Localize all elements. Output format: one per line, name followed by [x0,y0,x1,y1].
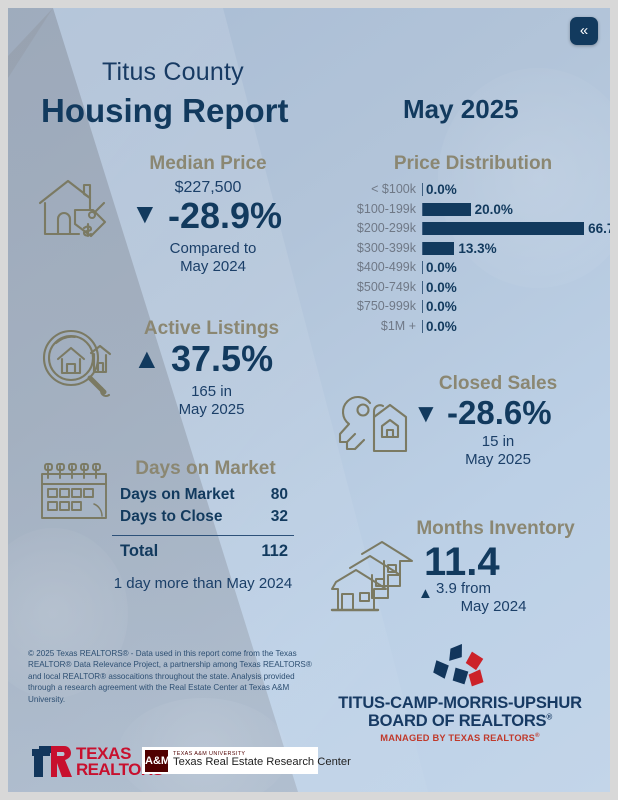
price-distribution-bar [422,242,454,255]
price-distribution-bar [422,261,423,274]
price-distribution-category: $100-199k [338,200,416,219]
price-distribution-row: < $100k0.0% [338,180,606,200]
research-center-logo: A&M TEXAS A&M UNIVERSITY Texas Real Esta… [142,747,318,774]
dom-total-value: 112 [261,542,288,561]
price-distribution-category: $400-499k [338,258,416,277]
months-inventory-compare: May 2024 [406,598,581,617]
price-distribution-bar-wrap [422,183,423,196]
active-listings-count-line2: May 2025 [124,401,299,420]
active-listings-direction-icon: ▲ [133,345,161,373]
price-distribution-value: 0.0% [426,278,457,297]
price-distribution-bar-wrap [422,320,423,333]
key-house-tag-icon [330,393,416,461]
price-distribution-category: $750-999k [338,297,416,316]
collapse-panel-button[interactable]: « [570,17,598,45]
house-price-tag-icon [32,171,114,245]
price-distribution-bar-wrap [422,261,423,274]
median-price-direction-icon: ▼ [131,200,159,228]
county-name: Titus County [102,58,244,87]
price-distribution-category: < $100k [338,180,416,199]
board-name-line2-text: BOARD OF REALTORS [368,712,546,730]
texas-realtors-mark [30,744,72,780]
active-listings-heading: Active Listings [124,318,299,340]
price-distribution-bar [422,281,423,294]
report-period: May 2025 [403,94,519,125]
price-distribution-value: 0.0% [426,317,457,336]
median-price-compare-line2: May 2024 [128,258,298,277]
median-price-heading: Median Price [128,153,288,175]
price-distribution-bar [422,183,423,196]
board-logo: TITUS-CAMP-MORRIS-UPSHUR BOARD OF REALTO… [326,644,594,743]
copyright-text: © 2025 Texas REALTORS® - Data used in th… [28,648,318,705]
research-center-line2: Texas Real Estate Research Center [173,757,351,769]
report-page: « Titus County Housing Report May 2025 M… [8,8,610,792]
price-distribution-value: 0.0% [426,297,457,316]
price-distribution-row: $500-749k0.0% [338,278,606,298]
price-distribution-bar [422,300,423,313]
closed-sales-count-line1: 15 in [408,433,588,452]
board-name-line1: TITUS-CAMP-MORRIS-UPSHUR [326,694,594,712]
price-distribution-category: $500-749k [338,278,416,297]
three-houses-icon [328,538,418,618]
board-tagline-text: MANAGED BY TEXAS REALTORS [380,733,535,743]
board-tagline: MANAGED BY TEXAS REALTORS® [326,733,594,743]
price-distribution-value: 20.0% [475,200,513,219]
registered-mark: ® [546,713,552,722]
dom-row-label: Days on Market [120,486,235,504]
days-on-market-note: 1 day more than May 2024 [93,575,313,594]
price-distribution-bar [422,203,471,216]
price-distribution-bar-wrap [422,222,584,235]
price-distribution-category: $300-399k [338,239,416,258]
closed-sales-direction-icon: ▼ [413,400,439,426]
active-listings-change: 37.5% [171,338,273,380]
page-title: Housing Report [41,92,288,130]
months-inventory-value: 11.4 [424,540,500,585]
table-row: Days on Market 80 [108,486,298,508]
table-row: Days to Close 32 [108,508,298,530]
price-distribution-row: $200-299k66.7% [338,219,606,239]
price-distribution-category: $200-299k [338,219,416,238]
price-distribution-bar-wrap [422,281,423,294]
price-distribution-title: Price Distribution [348,153,598,175]
price-distribution-bar-wrap [422,242,454,255]
price-distribution-row: $1M +0.0% [338,317,606,337]
price-distribution-value: 66.7% [588,219,610,238]
board-name-line2: BOARD OF REALTORS® [326,712,594,730]
days-on-market-heading: Days on Market [118,458,293,480]
closed-sales-count-line2: May 2025 [408,451,588,470]
texas-am-mark: A&M [145,750,168,772]
research-center-text: TEXAS A&M UNIVERSITY Texas Real Estate R… [173,752,351,769]
price-distribution-row: $400-499k0.0% [338,258,606,278]
price-distribution-bar [422,222,584,235]
magnifier-houses-icon [34,326,118,398]
days-on-market-table: Days on Market 80 Days to Close 32 Total… [108,486,298,564]
price-distribution-bar-wrap [422,300,423,313]
price-distribution-category: $1M + [338,317,416,336]
closed-sales-heading: Closed Sales [408,373,588,395]
months-inventory-change: 3.9 from [436,580,556,599]
median-price-compare-line1: Compared to [128,240,298,259]
dom-total-label: Total [120,542,158,561]
months-inventory-heading: Months Inventory [393,518,598,540]
active-listings-count-line1: 165 in [124,383,299,402]
price-distribution-value: 0.0% [426,258,457,277]
price-distribution-value: 0.0% [426,180,457,199]
dom-row-label: Days to Close [120,508,223,526]
price-distribution-chart: < $100k0.0%$100-199k20.0%$200-299k66.7%$… [338,180,606,336]
price-distribution-bar [422,320,423,333]
table-total-row: Total 112 [108,542,298,564]
median-price-change: -28.9% [168,195,282,237]
price-distribution-row: $300-399k13.3% [338,239,606,259]
board-pentagon-mark [425,644,495,690]
registered-mark: ® [535,733,540,739]
calendar-icon [36,460,116,526]
price-distribution-value: 13.3% [458,239,496,258]
price-distribution-row: $100-199k20.0% [338,200,606,220]
table-divider [112,535,294,536]
price-distribution-row: $750-999k0.0% [338,297,606,317]
price-distribution-bar-wrap [422,203,471,216]
closed-sales-change: -28.6% [447,394,552,432]
dom-row-value: 32 [271,508,288,526]
dom-row-value: 80 [271,486,288,504]
